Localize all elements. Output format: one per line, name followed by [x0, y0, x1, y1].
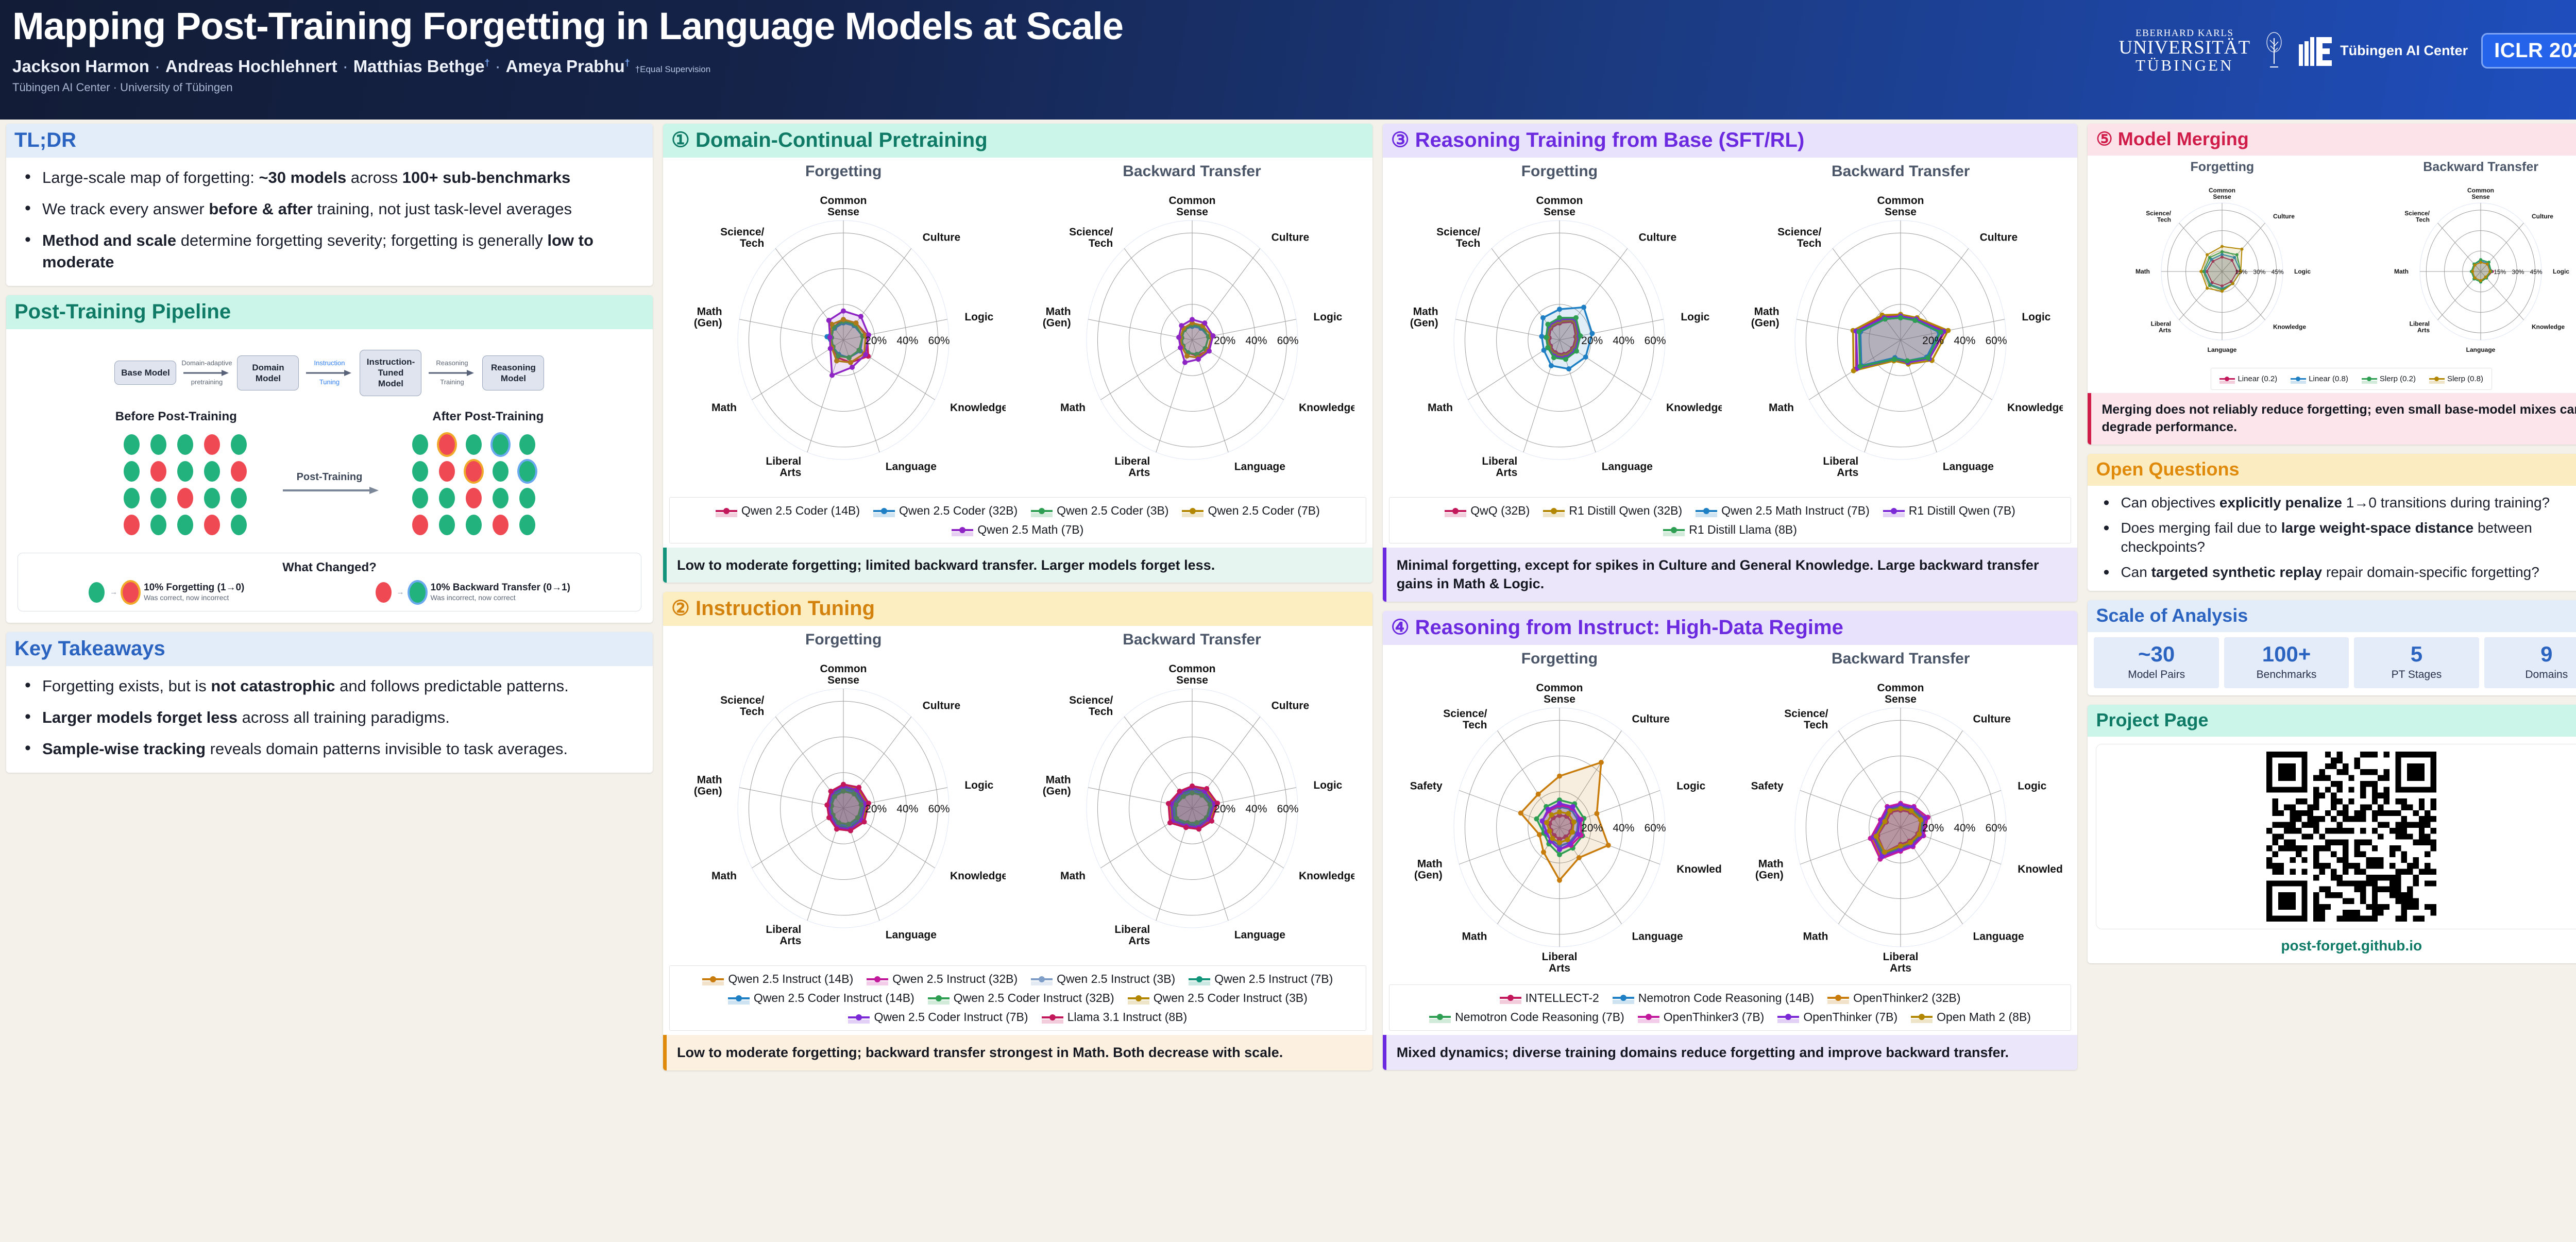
radar-data-point [1573, 315, 1579, 320]
radar-axis-label: Math(Gen) [694, 306, 722, 329]
radar-axis-label: Math [1803, 930, 1828, 942]
radar-chart: 20%40%60%CommonSenseCultureLogicKnowledg… [1030, 651, 1354, 962]
tuebingen-ai-center-logo: Tübingen AI Center [2298, 35, 2468, 67]
column-left: TL;DR Large-scale map of forgetting: ~30… [6, 124, 658, 1238]
correct-dot-icon [150, 515, 166, 535]
radar-data-point [848, 828, 853, 833]
radar-tick-label: 40% [897, 803, 919, 815]
legend-label: Open Math 2 (8B) [1937, 1010, 2031, 1024]
panel-2-backward-transfer: Backward Transfer 20%40%60%CommonSenseCu… [1030, 631, 1354, 962]
legend-swatch-icon [2429, 377, 2445, 382]
legend-item: Linear (0.8) [2291, 375, 2348, 383]
radar-data-point [1606, 843, 1611, 848]
legend-label: OpenThinker2 (32B) [1853, 991, 1960, 1005]
radar-axis-label: Logic [1313, 779, 1342, 791]
radar-axis-label: Math [1462, 930, 1487, 942]
radar-tick-label: 20% [865, 803, 887, 815]
legend-backward-transfer-text: 10% Backward Transfer (0→1) Was incorrec… [431, 582, 570, 603]
legend-item: Qwen 2.5 Coder (3B) [1031, 504, 1168, 518]
grid-cell [145, 512, 172, 538]
correct-dot-icon [519, 515, 535, 535]
incorrect-dot-icon [124, 515, 140, 535]
radar-data-point [1196, 356, 1201, 362]
panel-4-charts: Forgetting 20%40%60%CommonSenseCultureLo… [1389, 650, 2072, 981]
legend-label: Llama 3.1 Instruct (8B) [1067, 1010, 1188, 1024]
legend-label: Qwen 2.5 Coder Instruct (3B) [1154, 991, 1308, 1005]
radar-data-point [1549, 363, 1554, 368]
radar-axis-label: Science/Tech [1785, 708, 1828, 731]
grid-cell [460, 485, 487, 512]
radar-data-point [1571, 820, 1577, 825]
radar-data-point [824, 803, 829, 808]
radar-tick-label: 30% [2253, 268, 2266, 276]
panel-3-forgetting: Forgetting 20%40%60%CommonSenseCultureLo… [1397, 163, 1722, 494]
radar-axis-label: Knowledge [1298, 402, 1354, 414]
radar-axis-label: Culture [923, 231, 961, 243]
incorrect-dot-icon [439, 461, 455, 482]
legend-swatch-icon [716, 507, 737, 515]
radar-data-point [827, 335, 833, 340]
author-separator: · [490, 57, 506, 76]
radar-axis-label: Math [711, 870, 737, 882]
radar-axis-label: Knowledge [950, 402, 1006, 414]
radar-axis-label: Logic [2553, 268, 2569, 275]
radar-axis-label: LiberalArts [1114, 455, 1150, 479]
legend-item: OpenThinker2 (32B) [1827, 991, 1960, 1005]
grid-cell [225, 485, 252, 512]
legend-label: Qwen 2.5 Math (7B) [977, 523, 1083, 537]
correct-dot-icon [150, 434, 166, 455]
qr-code-icon[interactable] [2266, 752, 2436, 922]
legend-rows: INTELLECT-2Nemotron Code Reasoning (14B)… [1398, 991, 2063, 1024]
text-pre: Can [2121, 564, 2151, 580]
panel-2-card: ② Instruction Tuning Forgetting 20%40%60… [663, 592, 1372, 1070]
stat-value: ~30 [2096, 643, 2216, 665]
correct-dot-icon [231, 515, 247, 535]
radar-axis-label: Knowledge [2532, 323, 2565, 330]
radar-data-point [1577, 855, 1582, 860]
legend-label: R1 Distill Qwen (7B) [1909, 504, 2015, 518]
radar-axis-label: Science/Tech [2404, 210, 2430, 224]
radar-tick-label: 40% [1245, 335, 1267, 347]
correct-dot-icon [412, 434, 428, 455]
legend-label: Qwen 2.5 Coder (7B) [1208, 504, 1319, 518]
panel-4-forgetting: Forgetting 20%40%60%CommonSenseCultureLo… [1397, 650, 1722, 981]
legend-item: Llama 3.1 Instruct (8B) [1042, 1010, 1188, 1024]
legend-swatch-icon [1500, 994, 1521, 1001]
radar-axis-label: CommonSense [1877, 195, 1924, 218]
arrow-label-bottom: pretraining [176, 379, 237, 386]
legend-swatch-icon [1696, 507, 1717, 515]
legend-label: Linear (0.8) [2309, 375, 2348, 383]
chart-title: Backward Transfer [1030, 631, 1354, 649]
text-mid: determine forgetting severity; forgettin… [176, 231, 547, 249]
arrow-label-top: Domain-adaptive [176, 360, 237, 367]
legend-label: Qwen 2.5 Instruct (32B) [892, 972, 1018, 986]
radar-tick-label: 20% [1922, 822, 1944, 834]
radar-tick-label: 20% [1922, 335, 1944, 347]
legend-swatch-icon [873, 507, 895, 515]
scale-body: ~30Model Pairs100+Benchmarks5PT Stages9D… [2088, 632, 2576, 695]
sample-grid-comparison: Post-Training [18, 431, 641, 538]
text-bold: ~30 models [259, 168, 346, 186]
radar-data-point [1551, 355, 1556, 360]
pipeline-stage-domain: Domain Model [237, 355, 299, 391]
radar-axis-label: LiberalArts [766, 924, 802, 947]
arrow-label-bottom: Training [421, 379, 482, 386]
radar-chart: 20%40%60%CommonSenseCultureLogicKnowledg… [1397, 670, 1722, 981]
legend-swatch-icon [867, 976, 888, 983]
radar-axis-label: Math [1428, 402, 1453, 414]
panel-1-legend: Qwen 2.5 Coder (14B)Qwen 2.5 Coder (32B)… [669, 497, 1366, 543]
radar-data-point [1912, 318, 1918, 323]
column-right: ⑤ Model Merging Forgetting 15%30%45%Comm… [2082, 124, 2576, 1238]
grid-cell [514, 512, 540, 538]
equal-supervision-note: †Equal Supervision [635, 64, 710, 74]
grid-cell [433, 431, 460, 458]
radar-chart: 20%40%60%CommonSenseCultureLogicKnowledg… [1030, 182, 1354, 494]
radar-data-point [1882, 849, 1887, 855]
radar-data-point [1557, 847, 1562, 852]
key-takeaways-card: Key Takeaways Forgetting exists, but is … [6, 632, 653, 773]
stat-label: Model Pairs [2096, 669, 2216, 681]
radar-tick-label: 20% [1581, 335, 1603, 347]
radar-data-point [1557, 307, 1562, 312]
panel-5-backward-transfer: Backward Transfer 15%30%45%CommonSenseCu… [2380, 160, 2576, 365]
legend-swatch-icon [1429, 1013, 1451, 1020]
correct-dot-icon [124, 434, 140, 455]
what-changed-title: What Changed? [23, 560, 636, 575]
radar-axis-label: Math [2394, 268, 2409, 275]
radar-data-point [1898, 843, 1903, 848]
correct-dot-icon [493, 434, 509, 455]
radar-axis-label: Math [1769, 402, 1794, 414]
radar-data-point [2221, 290, 2224, 293]
panel-5-legend: Linear (0.2)Linear (0.8)Slerp (0.2)Slerp… [2211, 368, 2492, 390]
grid-cell [406, 458, 433, 485]
text-post: repair domain-specific forgetting? [2322, 564, 2539, 580]
legend-rows: Qwen 2.5 Instruct (14B)Qwen 2.5 Instruct… [678, 972, 1358, 1024]
legend-label: OpenThinker3 (7B) [1664, 1010, 1765, 1024]
legend-forgetting-text: 10% Forgetting (1→0) Was correct, now in… [144, 582, 244, 603]
incorrect-dot-icon [177, 488, 193, 508]
qr-code-container[interactable] [2096, 744, 2576, 929]
arrow-label-top: Instruction [299, 360, 360, 367]
text-bold: Method and scale [42, 231, 176, 249]
legend-item: Qwen 2.5 Coder (32B) [873, 504, 1018, 518]
radar-data-point [1557, 801, 1562, 806]
transition-label: Post-Training [252, 471, 406, 483]
key-takeaways-heading: Key Takeaways [6, 632, 653, 666]
legend-label: INTELLECT-2 [1526, 991, 1599, 1005]
radar-data-point [1599, 760, 1604, 765]
before-label: Before Post-Training [115, 410, 237, 424]
stat-card: 9Domains [2484, 637, 2576, 688]
legend-item: Qwen 2.5 Coder Instruct (3B) [1128, 991, 1308, 1005]
radar-data-point [1190, 317, 1195, 322]
text-bold: large weight-space distance [2281, 520, 2473, 536]
radar-data-point [1557, 878, 1562, 883]
radar-tick-label: 40% [1245, 803, 1267, 815]
radar-data-point [2199, 270, 2202, 273]
scale-of-analysis-card: Scale of Analysis ~30Model Pairs100+Benc… [2088, 600, 2576, 695]
radar-tick-label: 60% [928, 803, 950, 815]
project-page-card: Project Page post-forget.github.io [2088, 705, 2576, 963]
radar-plot: 20%40%60%CommonSenseCultureLogicKnowledg… [1397, 670, 1722, 979]
radar-tick-label: 60% [1644, 335, 1666, 347]
panel-5-forgetting: Forgetting 15%30%45%CommonSenseCultureLo… [2122, 160, 2323, 365]
radar-axis-label: Knowledge [950, 870, 1006, 882]
tldr-card: TL;DR Large-scale map of forgetting: ~30… [6, 124, 653, 286]
incorrect-dot-icon [439, 434, 455, 455]
legend-item: OpenThinker3 (7B) [1638, 1010, 1765, 1024]
legend-swatch-icon [1182, 507, 1204, 515]
university-logo-line3: TÜBINGEN [2119, 57, 2250, 73]
radar-data-point [1570, 804, 1575, 809]
radar-tick-label: 15% [2235, 268, 2248, 276]
legend-label: Qwen 2.5 Math Instruct (7B) [1721, 504, 1870, 518]
legend-sub: Was correct, now incorrect [144, 593, 229, 602]
grid-cell [172, 458, 198, 485]
radar-data-point [1898, 806, 1903, 811]
chart-title: Backward Transfer [1030, 163, 1354, 180]
radar-data-point [1583, 354, 1588, 360]
radar-axis-label: Math(Gen) [1042, 774, 1071, 797]
radar-axis-label: Safety [1751, 780, 1784, 792]
radar-axis-label: Logic [2018, 780, 2047, 792]
legend-swatch-icon [1031, 976, 1053, 983]
incorrect-dot-icon [412, 515, 428, 535]
list-item: Can objectives explicitly penalize 1→0 t… [2096, 493, 2576, 512]
chart-title: Backward Transfer [1738, 650, 2063, 668]
open-questions-card: Open Questions Can objectives explicitly… [2088, 454, 2576, 591]
legend-item: Linear (0.2) [2219, 375, 2277, 383]
radar-axis-label: Culture [1639, 231, 1677, 243]
author-2: Andreas Hochlehnert [165, 57, 337, 76]
radar-axis-label: Knowledge [1298, 870, 1354, 882]
text-bold: Larger models forget less [42, 708, 238, 726]
correct-dot-icon [519, 461, 535, 482]
before-dot-grid [118, 431, 252, 538]
panel-5-heading: ⑤ Model Merging [2088, 124, 2576, 156]
ai-center-mark-icon [2298, 35, 2334, 67]
pipeline-card: Post-Training Pipeline Base Model Domain… [6, 295, 653, 623]
legend-item: QwQ (32B) [1445, 504, 1530, 518]
radar-tick-label: 40% [1613, 822, 1634, 834]
grid-cell [514, 485, 540, 512]
correct-dot-icon [150, 488, 166, 508]
radar-data-point [1856, 329, 1861, 334]
grid-cell [406, 431, 433, 458]
legend-swatch-icon [1638, 1013, 1659, 1020]
before-after-labels: Before Post-Training After Post-Training [18, 410, 641, 424]
grid-cell [198, 458, 225, 485]
radar-axis-label: LiberalArts [2151, 320, 2172, 334]
radar-data-point [1547, 828, 1552, 833]
radar-tick-label: 45% [2272, 268, 2284, 276]
project-url[interactable]: post-forget.github.io [2096, 938, 2576, 954]
legend-label: Qwen 2.5 Coder Instruct (7B) [874, 1010, 1028, 1024]
radar-axis-label: Language [1234, 461, 1285, 473]
text-bold2: 100+ sub-benchmarks [402, 168, 571, 186]
grid-cell [198, 485, 225, 512]
text-pre: Large-scale map of forgetting: [42, 168, 259, 186]
radar-axis-label: CommonSense [1536, 195, 1583, 218]
panel-3-backward-transfer: Backward Transfer 20%40%60%CommonSenseCu… [1738, 163, 2063, 494]
legend-rows: Linear (0.2)Linear (0.8)Slerp (0.2)Slerp… [2219, 375, 2483, 383]
text-bold: before & after [209, 200, 313, 218]
legend-title: 10% Forgetting (1→0) [144, 582, 244, 593]
radar-axis-label: LiberalArts [1823, 455, 1859, 479]
tree-icon [2264, 31, 2284, 71]
ai-center-label: Tübingen AI Center [2340, 43, 2468, 59]
text-post: reveals domain patterns invisible to tas… [206, 740, 568, 758]
radar-data-point [1566, 366, 1571, 371]
legend-label: Qwen 2.5 Coder (3B) [1057, 504, 1168, 518]
grid-cell [406, 485, 433, 512]
radar-axis-label: Math(Gen) [1755, 858, 1784, 881]
radar-axis-label: Logic [1681, 311, 1709, 323]
tldr-heading: TL;DR [6, 124, 653, 158]
radar-axis-label: Science/Tech [1443, 708, 1487, 731]
legend-item: Slerp (0.2) [2362, 375, 2416, 383]
panel-4-card: ④ Reasoning from Instruct: High-Data Reg… [1383, 611, 2078, 1070]
pipeline-diagram: Base Model Domain-adaptive pretraining D… [18, 350, 641, 396]
list-item: Method and scale determine forgetting se… [18, 230, 641, 272]
pipeline-stage-reasoning: Reasoning Model [482, 355, 544, 391]
text-post: across all training paradigms. [238, 708, 450, 726]
pipeline-stage-instruction-tuned: Instruction-Tuned Model [360, 350, 421, 396]
panel-1-forgetting: Forgetting 20%40%60%CommonSenseCultureLo… [681, 163, 1006, 494]
radar-axis-label: Culture [1632, 713, 1670, 725]
incorrect-dot-icon [231, 461, 247, 482]
grid-cell [460, 458, 487, 485]
grid-cell [460, 512, 487, 538]
radar-data-point [1545, 807, 1550, 812]
open-questions-heading: Open Questions [2088, 454, 2576, 486]
radar-axis-label: Culture [1271, 700, 1309, 712]
grid-cell [433, 485, 460, 512]
legend-item: Qwen 2.5 Instruct (3B) [1031, 972, 1175, 986]
radar-axis-label: Knowledge [1676, 863, 1722, 875]
legend-label: Qwen 2.5 Instruct (7B) [1214, 972, 1333, 986]
legend-item: Qwen 2.5 Instruct (14B) [702, 972, 853, 986]
list-item: Large-scale map of forgetting: ~30 model… [18, 167, 641, 188]
radar-data-point [828, 789, 834, 794]
radar-data-point [1883, 819, 1888, 824]
incorrect-dot-icon [466, 461, 482, 482]
radar-data-point [1544, 820, 1549, 825]
radar-data-point [862, 820, 867, 825]
radar-axis-label: Math [2136, 268, 2150, 275]
radar-data-point [1178, 345, 1183, 350]
radar-data-point [1545, 345, 1550, 350]
radar-chart: 20%40%60%CommonSenseCultureLogicKnowledg… [1397, 182, 1722, 494]
grid-cell [118, 458, 145, 485]
legend-label: Qwen 2.5 Coder (32B) [899, 504, 1018, 518]
stat-label: Domains [2486, 669, 2576, 681]
radar-axis-label: CommonSense [1536, 682, 1583, 705]
what-changed-rows: → 10% Forgetting (1→0) Was correct, now … [23, 582, 636, 603]
radar-axis-label: Science/Tech [720, 226, 764, 249]
radar-axis-label: Language [886, 929, 937, 941]
radar-data-point [2206, 287, 2209, 290]
radar-axis-label: Culture [2532, 213, 2553, 220]
radar-data-point [1898, 315, 1903, 320]
text-bold: not [2189, 402, 2209, 417]
grid-cell [145, 458, 172, 485]
after-label: After Post-Training [432, 410, 544, 424]
grid-cell [225, 512, 252, 538]
correct-dot-icon [231, 488, 247, 508]
red-dot-icon [376, 582, 392, 603]
legend-swatch-icon [1777, 1013, 1799, 1020]
radar-axis-label: LiberalArts [1114, 924, 1150, 947]
correct-dot-icon [493, 488, 509, 508]
author-3: Matthias Bethge [353, 57, 485, 76]
text-post: 1→0 transitions during training? [2342, 495, 2550, 511]
pipeline-heading: Post-Training Pipeline [6, 295, 653, 329]
legend-swatch-icon [1042, 1014, 1063, 1021]
incorrect-dot-icon [204, 515, 220, 535]
legend-swatch-icon [728, 995, 750, 1002]
radar-data-point [841, 309, 846, 314]
list-item: We track every answer before & after tra… [18, 198, 641, 219]
radar-axis-label: LiberalArts [1541, 951, 1577, 974]
panel-4-heading: ④ Reasoning from Instruct: High-Data Reg… [1383, 611, 2078, 645]
radar-axis-label: Science/Tech [1069, 694, 1113, 718]
arrow-right-icon: → [110, 588, 117, 597]
correct-dot-icon [177, 461, 193, 482]
radar-axis-label: CommonSense [2467, 187, 2494, 201]
radar-data-point [1202, 320, 1207, 326]
poster-header: Mapping Post-Training Forgetting in Lang… [0, 0, 2576, 120]
text-bold: targeted synthetic replay [2151, 564, 2322, 580]
radar-data-point [2471, 270, 2474, 273]
arrow-right-icon [183, 369, 230, 377]
correct-dot-icon [493, 461, 509, 482]
radar-data-point [1563, 356, 1568, 362]
panel-3-body: Forgetting 20%40%60%CommonSenseCultureLo… [1383, 158, 2078, 548]
radar-tick-label: 20% [1581, 822, 1603, 834]
chart-title: Forgetting [1397, 163, 1722, 180]
grid-cell [198, 431, 225, 458]
radar-axis-label: Language [2208, 346, 2237, 353]
radar-data-point [2479, 258, 2482, 261]
venue-badge: ICLR 2026 [2481, 33, 2576, 69]
radar-data-point [829, 373, 835, 378]
legend-item: Qwen 2.5 Instruct (7B) [1189, 972, 1333, 986]
legend-rows: QwQ (32B)R1 Distill Qwen (32B)Qwen 2.5 M… [1398, 504, 2063, 537]
panel-4-legend: INTELLECT-2Nemotron Code Reasoning (14B)… [1389, 984, 2072, 1031]
grid-cell [406, 512, 433, 538]
radar-data-point [2206, 253, 2209, 256]
grid-cell [433, 512, 460, 538]
radar-axis-label: Logic [2294, 268, 2311, 275]
column-panels-3-4: ③ Reasoning Training from Base (SFT/RL) … [1378, 124, 2083, 1238]
correct-dot-icon [439, 515, 455, 535]
radar-axis-label: Culture [1980, 231, 2018, 243]
radar-data-point [1518, 810, 1523, 815]
radar-axis-label: Logic [1676, 780, 1705, 792]
author-separator: · [337, 57, 353, 76]
panel-2-body: Forgetting 20%40%60%CommonSenseCultureLo… [663, 626, 1372, 1035]
legend-label: QwQ (32B) [1470, 504, 1530, 518]
radar-axis-label: Knowledge [2007, 402, 2063, 414]
stat-label: PT Stages [2356, 669, 2477, 681]
stat-value: 5 [2356, 643, 2477, 665]
pipeline-body: Base Model Domain-adaptive pretraining D… [6, 329, 653, 623]
